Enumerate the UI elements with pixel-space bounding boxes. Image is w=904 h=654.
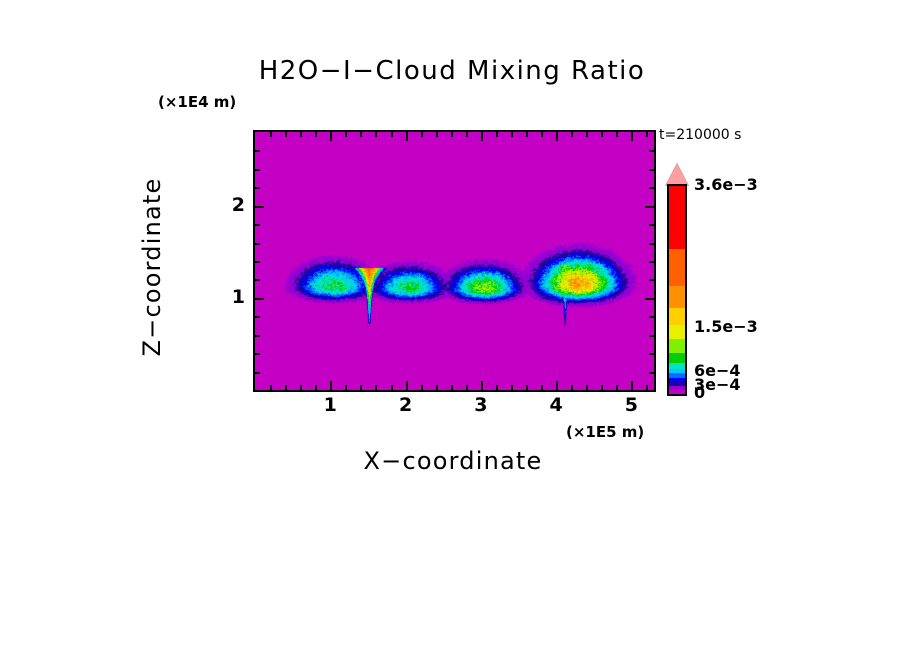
- y-minor-tick-right: [649, 335, 654, 337]
- y-minor-tick-right: [649, 150, 654, 152]
- x-major-tick-top: [330, 132, 332, 141]
- x-minor-tick: [646, 385, 648, 390]
- figure-root: H2O−I−Cloud Mixing Ratio (×1E4 m) t=2100…: [0, 0, 904, 654]
- y-minor-tick-right: [649, 279, 654, 281]
- x-tick-label: 5: [611, 394, 651, 416]
- y-minor-tick: [255, 372, 260, 374]
- y-major-tick-right: [645, 206, 654, 208]
- y-minor-tick: [255, 224, 260, 226]
- x-minor-tick-top: [496, 132, 498, 137]
- z-axis-unit-label: (×1E4 m): [158, 93, 236, 111]
- x-major-tick-top: [631, 132, 633, 141]
- x-minor-tick: [526, 385, 528, 390]
- x-minor-tick-top: [646, 132, 648, 137]
- x-minor-tick-top: [526, 132, 528, 137]
- colorbar: [667, 184, 687, 396]
- x-axis-title: X−coordinate: [253, 447, 653, 475]
- x-minor-tick-top: [451, 132, 453, 137]
- x-minor-tick: [616, 385, 618, 390]
- contour-field: [255, 132, 654, 390]
- x-tick-label: 3: [461, 394, 501, 416]
- x-minor-tick-top: [315, 132, 317, 137]
- x-minor-tick-top: [345, 132, 347, 137]
- x-minor-tick: [421, 385, 423, 390]
- colorbar-band: [669, 339, 685, 353]
- x-minor-tick: [375, 385, 377, 390]
- y-minor-tick-right: [649, 224, 654, 226]
- x-minor-tick: [285, 385, 287, 390]
- colorbar-band: [669, 390, 685, 394]
- colorbar-tick-label: 1.5e−3: [694, 317, 758, 336]
- y-minor-tick: [255, 279, 260, 281]
- x-minor-tick: [571, 385, 573, 390]
- x-axis-unit-label: (×1E5 m): [566, 423, 644, 441]
- x-minor-tick-top: [586, 132, 588, 137]
- y-minor-tick: [255, 353, 260, 355]
- y-tick-label: 2: [205, 194, 245, 216]
- x-major-tick-top: [406, 132, 408, 141]
- x-minor-tick: [511, 385, 513, 390]
- x-major-tick: [406, 381, 408, 390]
- y-major-tick: [255, 206, 264, 208]
- x-minor-tick-top: [511, 132, 513, 137]
- y-minor-tick-right: [649, 169, 654, 171]
- contour-plot-area: [253, 130, 656, 392]
- x-minor-tick-top: [616, 132, 618, 137]
- x-minor-tick: [586, 385, 588, 390]
- x-minor-tick-top: [541, 132, 543, 137]
- timestamp-label: t=210000 s: [659, 127, 741, 143]
- colorbar-band: [669, 186, 685, 249]
- colorbar-band: [669, 325, 685, 339]
- x-major-tick: [556, 381, 558, 390]
- x-major-tick-top: [556, 132, 558, 141]
- x-minor-tick-top: [375, 132, 377, 137]
- y-minor-tick-right: [649, 372, 654, 374]
- y-minor-tick-right: [649, 353, 654, 355]
- x-minor-tick: [466, 385, 468, 390]
- y-minor-tick-right: [649, 261, 654, 263]
- colorbar-arrow-cap: [665, 163, 689, 186]
- x-tick-label: 1: [310, 394, 350, 416]
- y-major-tick-right: [645, 298, 654, 300]
- colorbar-tick-label: 0: [694, 383, 705, 402]
- x-minor-tick-top: [285, 132, 287, 137]
- x-minor-tick: [496, 385, 498, 390]
- colorbar-band: [669, 249, 685, 286]
- x-minor-tick: [436, 385, 438, 390]
- colorbar-band: [669, 286, 685, 308]
- y-minor-tick-right: [649, 316, 654, 318]
- colorbar-band: [669, 353, 685, 363]
- x-tick-label: 4: [536, 394, 576, 416]
- y-axis-title: Z−coordinate: [138, 67, 166, 467]
- x-major-tick: [330, 381, 332, 390]
- x-minor-tick-top: [300, 132, 302, 137]
- x-minor-tick-top: [571, 132, 573, 137]
- x-major-tick: [631, 381, 633, 390]
- y-major-tick: [255, 298, 264, 300]
- x-minor-tick: [315, 385, 317, 390]
- y-minor-tick: [255, 261, 260, 263]
- x-minor-tick-top: [391, 132, 393, 137]
- x-minor-tick-top: [466, 132, 468, 137]
- x-minor-tick: [360, 385, 362, 390]
- x-minor-tick: [601, 385, 603, 390]
- y-minor-tick-right: [649, 187, 654, 189]
- x-minor-tick: [270, 385, 272, 390]
- page-title: H2O−I−Cloud Mixing Ratio: [0, 56, 904, 86]
- y-minor-tick: [255, 243, 260, 245]
- x-major-tick-top: [481, 132, 483, 141]
- x-minor-tick: [345, 385, 347, 390]
- y-minor-tick: [255, 150, 260, 152]
- x-minor-tick-top: [436, 132, 438, 137]
- y-minor-tick: [255, 187, 260, 189]
- colorbar-band: [669, 308, 685, 326]
- y-minor-tick: [255, 169, 260, 171]
- y-minor-tick: [255, 335, 260, 337]
- x-minor-tick: [451, 385, 453, 390]
- y-tick-label: 1: [205, 286, 245, 308]
- y-minor-tick-right: [649, 243, 654, 245]
- x-minor-tick: [391, 385, 393, 390]
- y-minor-tick: [255, 316, 260, 318]
- colorbar-tick-label: 3.6e−3: [694, 175, 758, 194]
- x-tick-label: 2: [386, 394, 426, 416]
- x-minor-tick: [541, 385, 543, 390]
- x-major-tick: [481, 381, 483, 390]
- x-minor-tick-top: [601, 132, 603, 137]
- x-minor-tick-top: [270, 132, 272, 137]
- x-minor-tick-top: [421, 132, 423, 137]
- x-minor-tick: [300, 385, 302, 390]
- x-minor-tick-top: [360, 132, 362, 137]
